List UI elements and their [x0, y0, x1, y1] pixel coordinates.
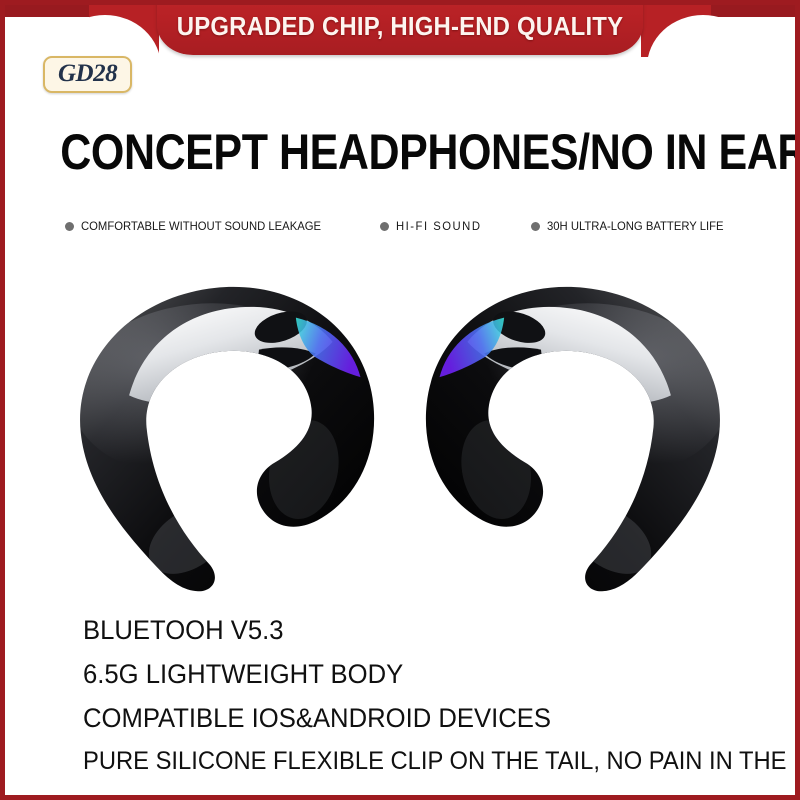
- page-title: CONCEPT HEADPHONES/NO IN EAR: [60, 123, 739, 181]
- model-badge: GD28: [43, 56, 132, 93]
- spec-list: BLUETOOH V5.3 6.5G LIGHTWEIGHT BODY COMP…: [83, 617, 783, 774]
- feature-list: COMFORTABLE WITHOUT SOUND LEAKAGE HI-FI …: [5, 219, 795, 233]
- product-image-left-earbud: [50, 253, 400, 603]
- spec-line-compatibility: COMPATIBLE IOS&ANDROID DEVICES: [83, 705, 748, 732]
- spec-line-silicone-clip: PURE SILICONE FLEXIBLE CLIP ON THE TAIL,…: [83, 749, 748, 774]
- dot-bullet-icon: [65, 222, 74, 231]
- product-image-right-earbud: [400, 253, 750, 603]
- model-badge-label: GD28: [58, 61, 117, 87]
- product-poster: UPGRADED CHIP, HIGH-END QUALITY GD28 CON…: [0, 0, 800, 800]
- feature-label: 30H ULTRA-LONG BATTERY LIFE: [547, 219, 724, 233]
- feature-label: HI-FI SOUND: [396, 219, 481, 233]
- spec-line-weight: 6.5G LIGHTWEIGHT BODY: [83, 661, 748, 688]
- dot-bullet-icon: [380, 222, 389, 231]
- dot-bullet-icon: [531, 222, 540, 231]
- feature-label: COMFORTABLE WITHOUT SOUND LEAKAGE: [81, 219, 321, 233]
- feature-item-battery: 30H ULTRA-LONG BATTERY LIFE: [531, 219, 735, 233]
- feature-item-hifi: HI-FI SOUND: [380, 219, 487, 233]
- spec-line-bluetooth: BLUETOOH V5.3: [83, 617, 748, 644]
- feature-item-comfort: COMFORTABLE WITHOUT SOUND LEAKAGE: [65, 219, 336, 233]
- product-image-group: [5, 253, 795, 603]
- banner-headline-text: UPGRADED CHIP, HIGH-END QUALITY: [176, 11, 623, 42]
